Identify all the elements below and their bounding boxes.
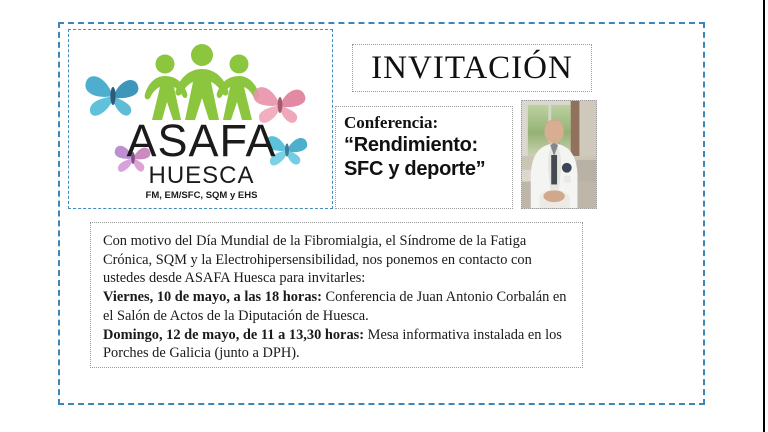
- logo-tagline: FM, EM/SFC, SQM y EHS: [69, 191, 334, 201]
- conference-title-line-2: SFC y deporte”: [344, 157, 512, 181]
- slide-right-edge: [763, 0, 765, 432]
- body-intro-paragraph: Con motivo del Día Mundial de la Fibromi…: [103, 232, 572, 288]
- body-event-1: Viernes, 10 de mayo, a las 18 horas: Con…: [103, 288, 572, 325]
- asafa-logo-panel: ASAFA HUESCA FM, EM/SFC, SQM y EHS: [68, 29, 333, 209]
- body-event-2: Domingo, 12 de mayo, de 11 a 13,30 horas…: [103, 326, 572, 363]
- three-people-logo-icon: [143, 42, 261, 122]
- invitation-title-box: INVITACIÓN: [352, 44, 592, 92]
- invitation-body-box: Con motivo del Día Mundial de la Fibromi…: [90, 222, 583, 368]
- logo-city: HUESCA: [69, 164, 334, 188]
- event-1-datetime: Viernes, 10 de mayo, a las 18 horas:: [103, 289, 322, 305]
- conference-text-box: Conferencia: “Rendimiento: SFC y deporte…: [335, 106, 513, 209]
- slide-canvas: ASAFA HUESCA FM, EM/SFC, SQM y EHS INVIT…: [0, 0, 768, 432]
- conference-label: Conferencia:: [344, 113, 512, 133]
- conference-title-line-1: “Rendimiento:: [344, 133, 512, 157]
- event-2-datetime: Domingo, 12 de mayo, de 11 a 13,30 horas…: [103, 327, 364, 343]
- butterfly-teal-left-icon: [83, 66, 143, 122]
- page-title: INVITACIÓN: [371, 52, 573, 85]
- speaker-photo-image: [522, 101, 596, 208]
- speaker-photo: [521, 100, 597, 209]
- logo-wordmark: ASAFA: [69, 118, 334, 163]
